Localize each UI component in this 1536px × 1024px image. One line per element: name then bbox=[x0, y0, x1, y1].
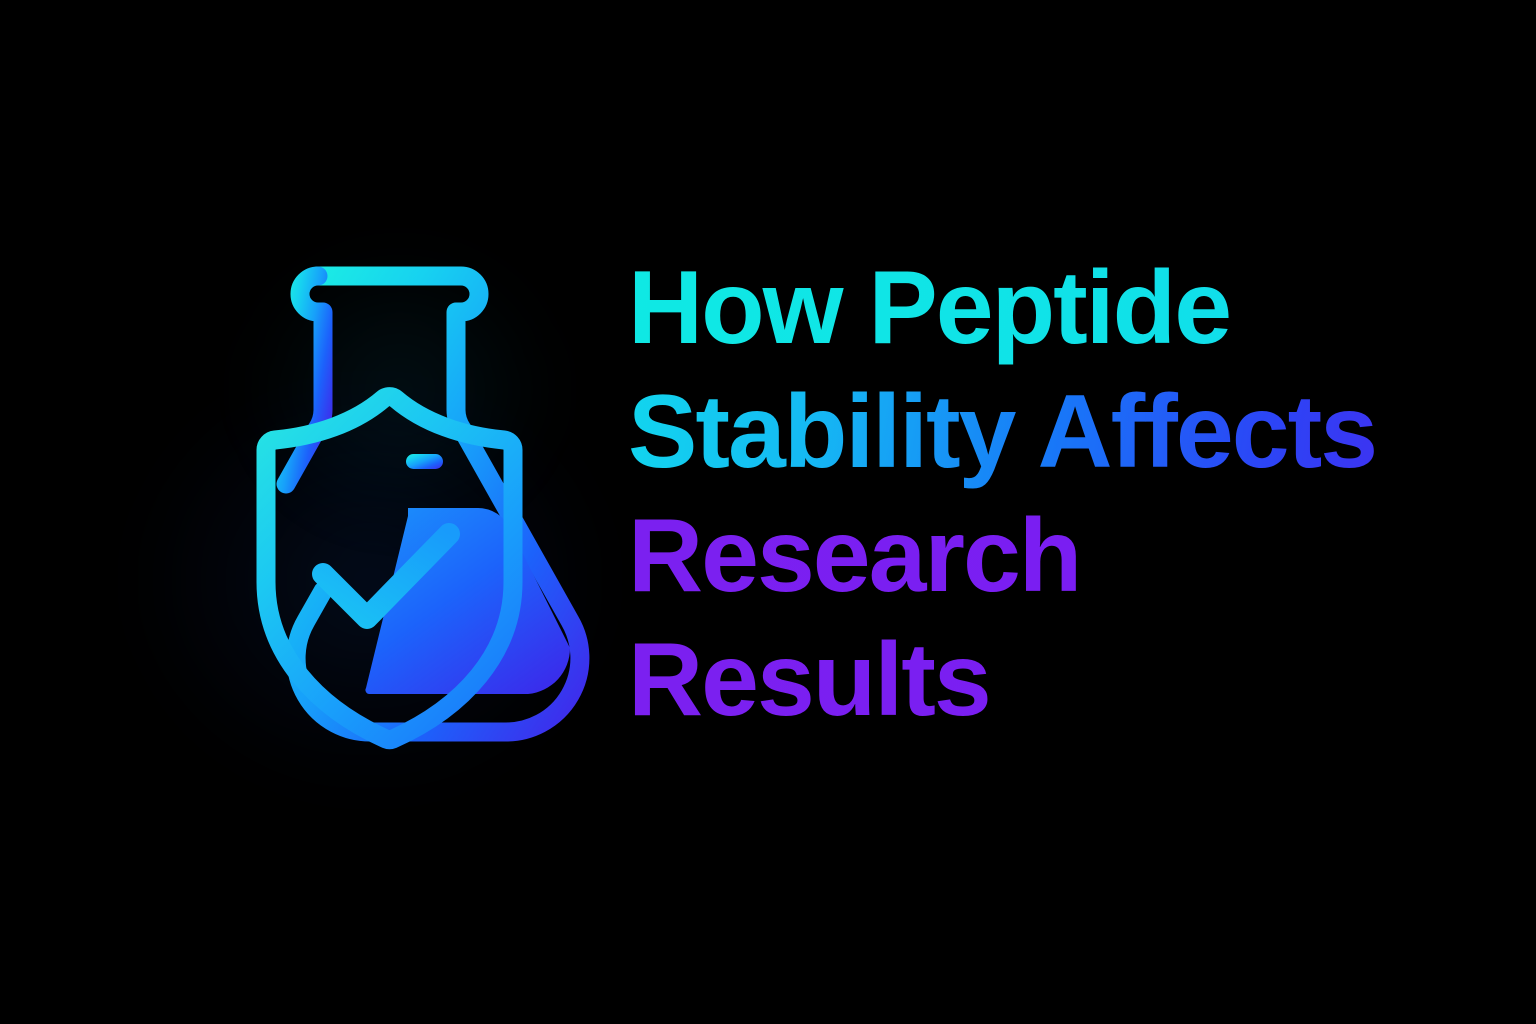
banner-root: How Peptide Stability Affects Research R… bbox=[0, 0, 1536, 1024]
headline-line-2: Stability Affects bbox=[628, 370, 1478, 494]
headline-line-1: How Peptide bbox=[628, 246, 1478, 370]
page-title: How Peptide Stability Affects Research R… bbox=[628, 246, 1478, 742]
headline-line-3: Research bbox=[628, 494, 1478, 618]
headline-line-4: Results bbox=[628, 618, 1478, 742]
flask-graduation-mark bbox=[406, 454, 443, 469]
shield-check-flask-icon bbox=[118, 248, 588, 758]
icon-svg bbox=[118, 248, 588, 758]
